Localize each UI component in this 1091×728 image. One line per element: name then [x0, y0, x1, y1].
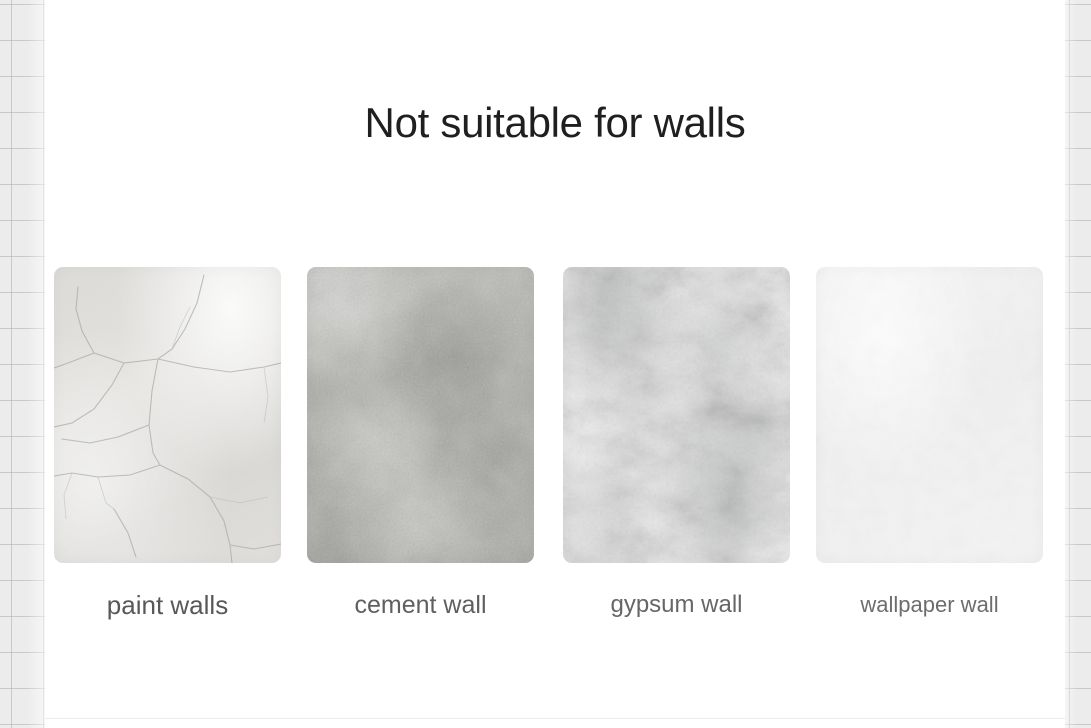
gallery-item-label: wallpaper wall — [816, 589, 1043, 621]
graph-paper-strip-left — [0, 0, 45, 728]
gallery-item-label: gypsum wall — [563, 589, 790, 621]
paint-wall-swatch[interactable] — [54, 267, 281, 563]
content-area: Not suitable for walls — [45, 0, 1065, 728]
paper-grain-texture — [816, 267, 1043, 563]
cement-wall-swatch[interactable] — [307, 267, 534, 563]
gallery-item-label: paint walls — [54, 589, 281, 621]
plaster-cloud-texture — [563, 267, 790, 563]
gallery-item[interactable]: wallpaper wall — [816, 267, 1043, 563]
gallery-item[interactable]: gypsum wall — [563, 267, 790, 563]
graph-paper-strip-right — [1065, 0, 1091, 728]
bottom-divider — [45, 718, 1065, 719]
page-title: Not suitable for walls — [45, 95, 1065, 151]
gallery-item-label: cement wall — [307, 589, 534, 621]
wallpaper-wall-swatch[interactable] — [816, 267, 1043, 563]
crack-lines-icon — [54, 267, 281, 563]
gallery-item[interactable]: cement wall — [307, 267, 534, 563]
product-info-page: Not suitable for walls — [0, 0, 1091, 728]
wall-type-gallery: paint walls — [45, 267, 1065, 667]
gallery-item[interactable]: paint walls — [54, 267, 281, 563]
gypsum-wall-swatch[interactable] — [563, 267, 790, 563]
concrete-speckle-texture — [307, 267, 534, 563]
